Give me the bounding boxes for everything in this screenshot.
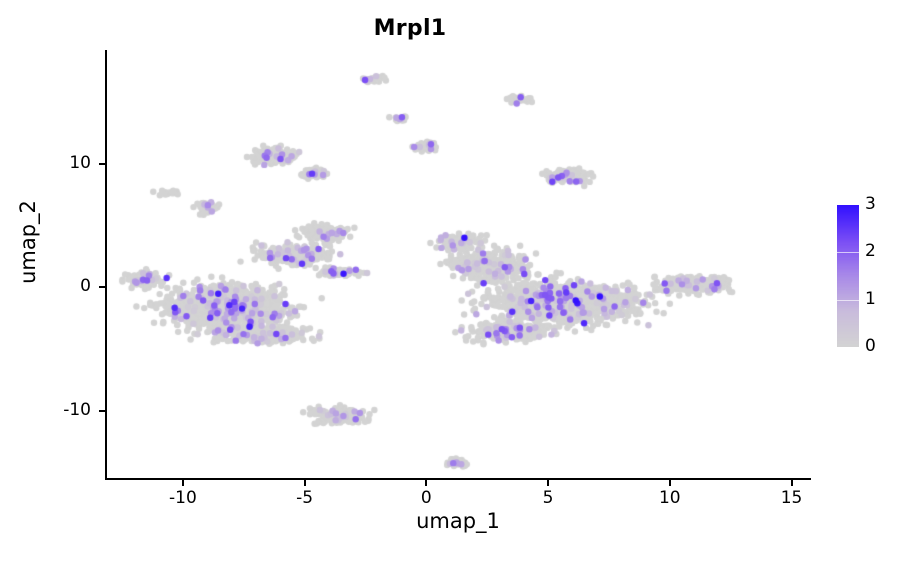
colorbar-tick-label: 1 — [865, 289, 876, 309]
x-tick-label: 15 — [762, 488, 822, 508]
colorbar-tick-label: 3 — [865, 194, 876, 214]
x-tick-label: -5 — [275, 488, 335, 508]
x-tick-label: 10 — [640, 488, 700, 508]
colorbar-tick-label: 2 — [865, 241, 876, 261]
plot-axes: -10-5051015 100-10 — [105, 50, 811, 480]
scatter-plot-canvas — [105, 50, 811, 480]
x-tick-mark — [182, 480, 184, 486]
colorbar-gradient — [837, 205, 859, 347]
x-axis-spine — [105, 478, 811, 480]
x-tick-mark — [304, 480, 306, 486]
umap-feature-plot: Mrpl1 -10-5051015 100-10 umap_1 umap_2 3… — [0, 0, 911, 562]
colorbar-tick-label: 0 — [865, 336, 876, 356]
page-title: Mrpl1 — [0, 16, 820, 41]
colorbar-tick-mark — [837, 252, 859, 253]
y-axis-label: umap_2 — [16, 152, 40, 332]
y-tick-label: -10 — [27, 400, 91, 420]
x-axis-label: umap_1 — [105, 509, 811, 533]
x-tick-mark — [547, 480, 549, 486]
x-tick-label: -10 — [153, 488, 213, 508]
y-tick-mark — [99, 410, 105, 412]
x-tick-mark — [669, 480, 671, 486]
colorbar-tick-mark — [837, 300, 859, 301]
x-tick-label: 0 — [396, 488, 456, 508]
x-tick-mark — [791, 480, 793, 486]
y-axis-spine — [105, 50, 107, 480]
y-tick-mark — [99, 163, 105, 165]
x-tick-label: 5 — [518, 488, 578, 508]
x-tick-mark — [425, 480, 427, 486]
y-tick-mark — [99, 286, 105, 288]
